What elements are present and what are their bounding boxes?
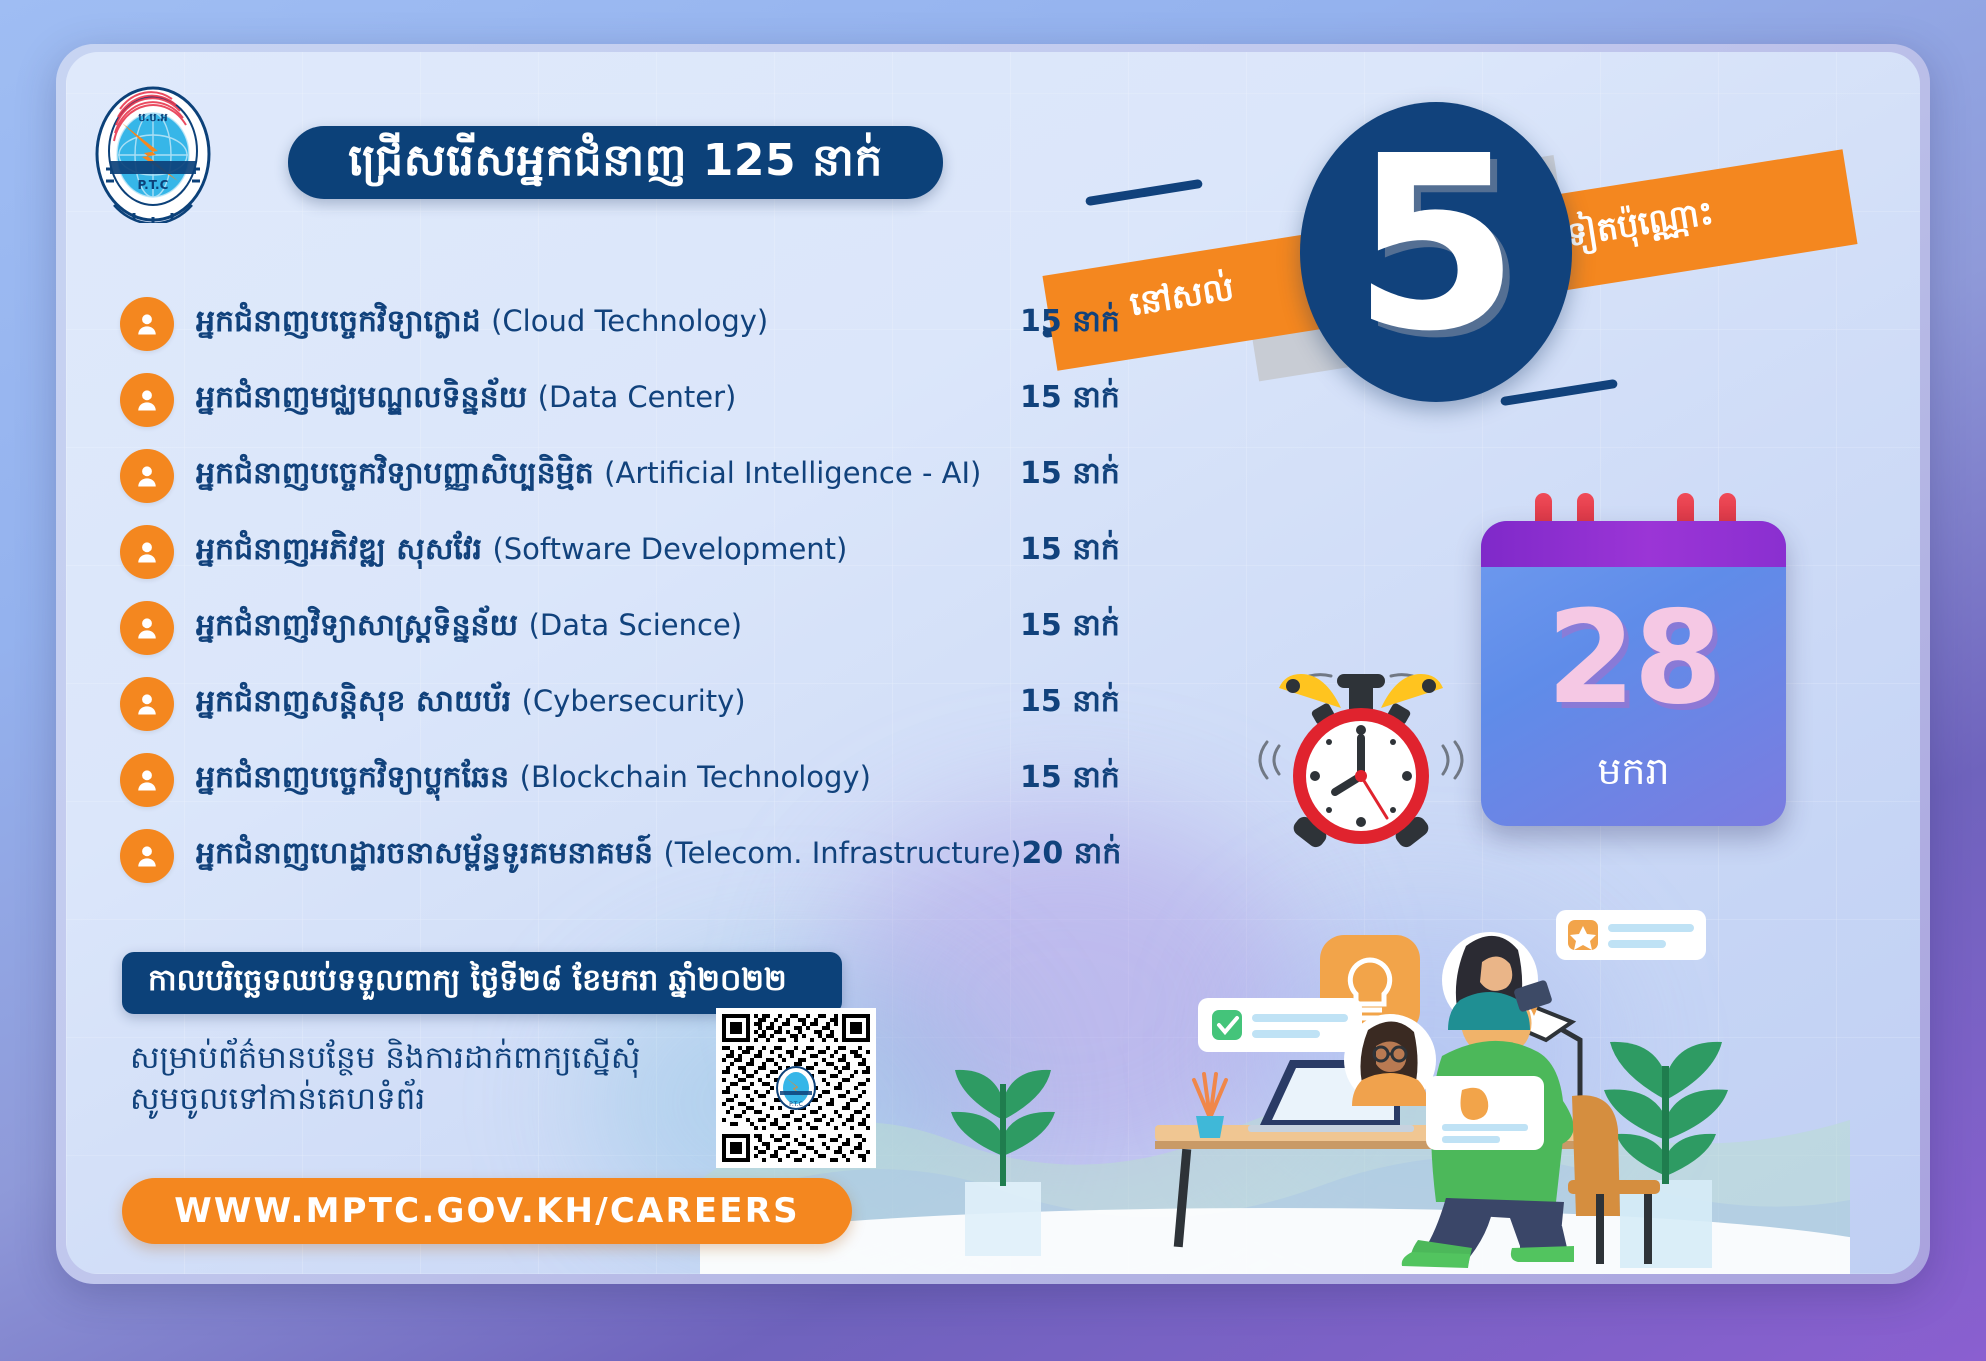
job-qty: 20 នាក់ (1021, 834, 1181, 878)
mptc-ptc-logo: ប.ប.អ P.T.C (94, 85, 212, 223)
person-icon (120, 753, 174, 807)
job-name: អ្នកជំនាញអភិវឌ្ឍ សុសវែរ (Software Develo… (196, 530, 1020, 574)
calendar-month: មករា (1481, 747, 1786, 803)
person-icon (120, 449, 174, 503)
careers-url-text: WWW.MPTC.GOV.KH/CAREERS (174, 1191, 800, 1231)
job-row[interactable]: អ្នកជំនាញបច្ចេកវិទ្យាបញ្ញាសិប្បនិម្មិត (… (120, 438, 1180, 514)
job-qty: 15 នាក់ (1020, 454, 1180, 498)
job-qty: 15 នាក់ (1020, 530, 1180, 574)
decorative-dash (1085, 179, 1203, 206)
job-row[interactable]: អ្នកជំនាញបច្ចេកវិទ្យាក្លោដ (Cloud Techno… (120, 286, 1180, 362)
job-qty: 15 នាក់ (1020, 758, 1180, 802)
job-row[interactable]: អ្នកជំនាញមជ្ឈមណ្ឌលទិន្នន័យ (Data Center)… (120, 362, 1180, 438)
person-icon (120, 601, 174, 655)
job-name: អ្នកជំនាញបច្ចេកវិទ្យាប្លុកឆែន (Blockchai… (196, 758, 1020, 802)
svg-text:P.T.C: P.T.C (138, 178, 169, 192)
application-note-line2: សូមចូលទៅកាន់គេហទំព័រ (130, 1079, 710, 1120)
calendar-header-bar (1481, 521, 1786, 567)
alarm-clock-icon (1241, 646, 1481, 876)
page-title-text: ជ្រើសរើសអ្នកជំនាញ 125 នាក់ (348, 139, 883, 183)
deadline-text: កាលបរិច្ឆេទឈប់ទទួលពាក្យ ថ្ងៃទី២៨ ខែមករា … (148, 961, 787, 1005)
calendar-day: 28 (1481, 595, 1786, 723)
svg-text:ប.ប.អ: ប.ប.អ (138, 111, 167, 124)
person-icon (120, 297, 174, 351)
job-name: អ្នកជំនាញបច្ចេកវិទ្យាបញ្ញាសិប្បនិម្មិត (… (196, 454, 1020, 498)
job-qty: 15 នាក់ (1020, 682, 1180, 726)
job-name: អ្នកជំនាញវិទ្យាសាស្ត្រទិន្នន័យ (Data Sci… (196, 606, 1020, 650)
qr-center-logo: P.T.C (776, 1066, 816, 1110)
calendar-body: 28 មករា (1481, 521, 1786, 826)
job-name: អ្នកជំនាញមជ្ឈមណ្ឌលទិន្នន័យ (Data Center) (196, 378, 1020, 422)
person-icon (120, 677, 174, 731)
countdown-number: 5 (1353, 124, 1520, 364)
countdown-graphic: នៅសល់ ថ្ងៃទៀតប៉ុណ្ណោះ 5 (1100, 120, 1900, 420)
job-qty: 15 នាក់ (1020, 378, 1180, 422)
svg-text:P.T.C: P.T.C (789, 1101, 803, 1108)
person-icon (120, 373, 174, 427)
qr-code[interactable]: P.T.C (716, 1008, 876, 1168)
job-row[interactable]: អ្នកជំនាញវិទ្យាសាស្ត្រទិន្នន័យ (Data Sci… (120, 590, 1180, 666)
application-note-line1: សម្រាប់ព័ត៌មានបន្ថែម និងការដាក់ពាក្យស្នើ… (130, 1038, 710, 1079)
calendar-widget: 28 មករា (1481, 521, 1786, 826)
job-list: អ្នកជំនាញបច្ចេកវិទ្យាក្លោដ (Cloud Techno… (120, 286, 1180, 894)
careers-url-button[interactable]: WWW.MPTC.GOV.KH/CAREERS (122, 1178, 852, 1244)
job-row[interactable]: អ្នកជំនាញសន្តិសុខ សាយប័រ (Cybersecurity)… (120, 666, 1180, 742)
person-icon (120, 525, 174, 579)
page-title: ជ្រើសរើសអ្នកជំនាញ 125 នាក់ (288, 126, 943, 199)
job-name: អ្នកជំនាញហេដ្ឋារចនាសម្ព័ន្ធទូរគមនាគមន៍ (… (196, 834, 1021, 878)
countdown-circle: 5 (1300, 102, 1572, 402)
person-icon (120, 829, 174, 883)
job-qty: 15 នាក់ (1020, 302, 1180, 346)
deadline-banner: កាលបរិច្ឆេទឈប់ទទួលពាក្យ ថ្ងៃទី២៨ ខែមករា … (122, 952, 842, 1014)
job-row[interactable]: អ្នកជំនាញអភិវឌ្ឍ សុសវែរ (Software Develo… (120, 514, 1180, 590)
job-name: អ្នកជំនាញបច្ចេកវិទ្យាក្លោដ (Cloud Techno… (196, 302, 1020, 346)
job-row[interactable]: អ្នកជំនាញបច្ចេកវិទ្យាប្លុកឆែន (Blockchai… (120, 742, 1180, 818)
job-name: អ្នកជំនាញសន្តិសុខ សាយប័រ (Cybersecurity) (196, 682, 1020, 726)
job-qty: 15 នាក់ (1020, 606, 1180, 650)
application-note: សម្រាប់ព័ត៌មានបន្ថែម និងការដាក់ពាក្យស្នើ… (130, 1038, 710, 1120)
